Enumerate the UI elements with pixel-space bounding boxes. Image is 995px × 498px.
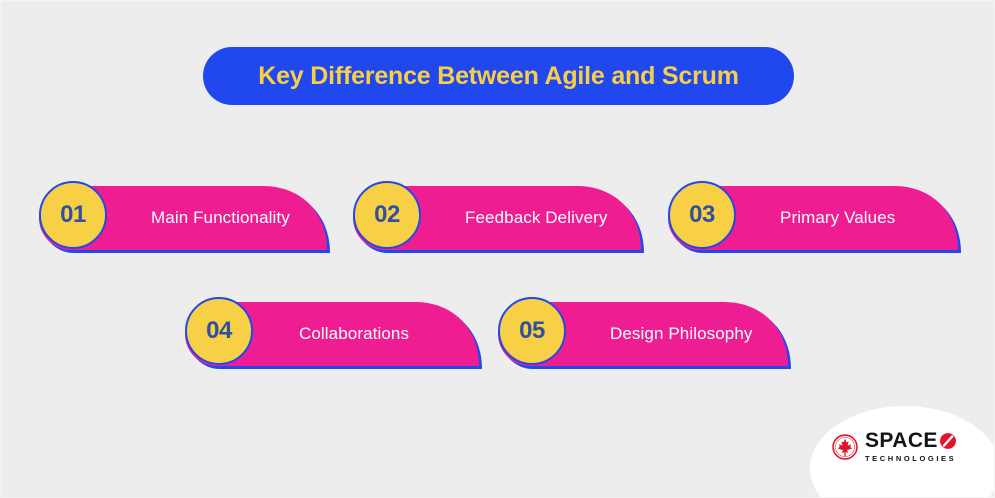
card-number-badge: 01 bbox=[39, 181, 107, 249]
card-number-badge: 05 bbox=[498, 297, 566, 365]
difference-card[interactable]: 02Feedback Delivery bbox=[353, 186, 641, 250]
card-number: 02 bbox=[374, 203, 400, 227]
page-title: Key Difference Between Agile and Scrum bbox=[258, 62, 739, 91]
difference-card[interactable]: 04Collaborations bbox=[185, 302, 479, 366]
card-label: Primary Values bbox=[780, 186, 895, 250]
brand-wordmark-top: SPACE bbox=[865, 430, 957, 451]
card-number: 03 bbox=[689, 203, 715, 227]
card-number: 04 bbox=[206, 319, 232, 343]
brand-tagline: TECHNOLOGIES bbox=[865, 454, 957, 463]
brand-name: SPACE bbox=[865, 430, 938, 451]
infographic-canvas: Key Difference Between Agile and Scrum 0… bbox=[0, 0, 995, 498]
card-number: 05 bbox=[519, 319, 545, 343]
card-number-badge: 03 bbox=[668, 181, 736, 249]
card-number-badge: 04 bbox=[185, 297, 253, 365]
card-number-badge: 02 bbox=[353, 181, 421, 249]
difference-card[interactable]: 03Primary Values bbox=[668, 186, 958, 250]
brand-logo-badge: SPACE TECHNOLOGIES bbox=[810, 406, 995, 498]
brand-o-mark-icon bbox=[939, 432, 957, 450]
difference-card[interactable]: 05Design Philosophy bbox=[498, 302, 788, 366]
card-label: Feedback Delivery bbox=[465, 186, 607, 250]
brand-wordmark: SPACE TECHNOLOGIES bbox=[865, 430, 957, 463]
page-title-pill: Key Difference Between Agile and Scrum bbox=[203, 47, 794, 105]
difference-card[interactable]: 01Main Functionality bbox=[39, 186, 327, 250]
card-label: Main Functionality bbox=[151, 186, 290, 250]
brand-logo: SPACE TECHNOLOGIES bbox=[832, 430, 957, 463]
card-number: 01 bbox=[60, 203, 86, 227]
card-label: Collaborations bbox=[299, 302, 409, 366]
maple-leaf-icon bbox=[832, 434, 858, 460]
card-label: Design Philosophy bbox=[610, 302, 753, 366]
